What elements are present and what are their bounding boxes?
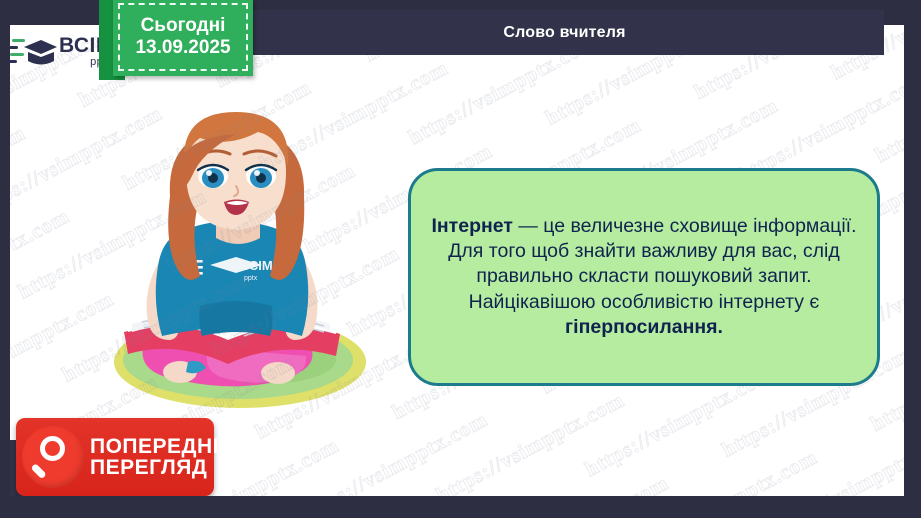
- preview-badge-line-2: ПЕРЕГЛЯД: [90, 457, 235, 478]
- content-callout-box: Інтернет — це величезне сховище інформац…: [408, 168, 880, 386]
- preview-badge-text: ПОПЕРЕДНІЙ ПЕРЕГЛЯД: [90, 436, 235, 479]
- date-badge: Сьогодні 13.09.2025: [99, 0, 253, 76]
- preview-badge[interactable]: ПОПЕРЕДНІЙ ПЕРЕГЛЯД: [16, 418, 214, 496]
- content-emphasis: гіперпосилання.: [565, 316, 723, 338]
- bottom-frame-bar: [0, 496, 921, 518]
- date-badge-value: 13.09.2025: [135, 37, 230, 59]
- girl-reading-book-illustration: ВСІМ pptx: [88, 110, 388, 415]
- content-text: Інтернет — це величезне сховище інформац…: [427, 214, 861, 341]
- graduation-cap-icon: [8, 31, 58, 71]
- slide-frame: https://vsimpptx.comhttps://vsimpptx.com…: [0, 0, 921, 518]
- section-header-bar: Слово вчителя: [245, 10, 884, 55]
- content-lead: Інтернет: [431, 215, 512, 237]
- svg-text:pptx: pptx: [244, 275, 258, 282]
- date-badge-label: Сьогодні: [141, 15, 226, 37]
- date-badge-card: Сьогодні 13.09.2025: [113, 0, 253, 76]
- preview-badge-line-1: ПОПЕРЕДНІЙ: [90, 436, 235, 457]
- section-header-title: Слово вчителя: [503, 24, 625, 42]
- magnifier-icon: [22, 426, 84, 488]
- svg-text:ВСІМ: ВСІМ: [240, 258, 273, 273]
- illustration-svg: ВСІМ pptx: [88, 110, 388, 415]
